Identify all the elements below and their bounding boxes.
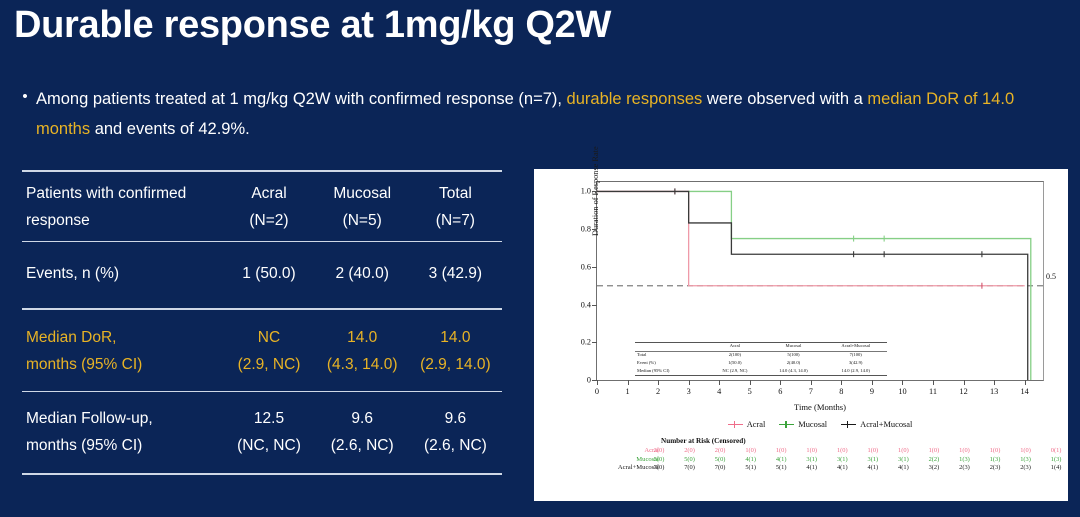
risk-cell: 5(0) — [684, 456, 695, 463]
km-legend: Acral Mucosal Acral+Mucosal — [597, 420, 1043, 429]
risk-row-label: Acral — [605, 447, 659, 454]
inner-col-mucosal: Mucosal — [762, 342, 824, 351]
slide-root: Durable response at 1mg/kg Q2W • Among p… — [0, 0, 1080, 517]
inner-table-row-median: Median (95% CI) NC (2.9, NC) 14.0 (4.3, … — [635, 367, 887, 375]
table-row-median-followup: Median Follow-up, months (95% CI) 12.5 (… — [22, 405, 502, 459]
inner-col-blank — [635, 342, 707, 351]
legend-label-acral-mucosal: Acral+Mucosal — [860, 420, 912, 429]
table-row: Median DoR, months (95% CI) NC (2.9, NC)… — [22, 324, 502, 378]
risk-row-label: Mucosal — [605, 456, 659, 463]
y-tick-label: 0.4 — [581, 300, 591, 309]
x-tick-label: 2 — [656, 387, 660, 396]
risk-cell: 3(1) — [806, 456, 817, 463]
x-tick-label: 6 — [778, 387, 782, 396]
inner-col-acral-mucosal: Acral+Mucosal — [824, 342, 887, 351]
km-chart-panel: Duration of Response Rate 00.20.40.60.81… — [534, 169, 1068, 501]
inner-table-row-event: Event (%) 1(50.0) 2(40.0) 3(42.9) — [635, 359, 887, 367]
risk-cell: 1(3) — [1020, 456, 1031, 463]
row-label-median-dor: Median DoR, months (95% CI) — [22, 324, 222, 378]
x-tick-label: 10 — [898, 387, 906, 396]
cell-followup-acral: 12.5 (NC, NC) — [222, 405, 315, 459]
risk-row-label: Acral+Mucosal — [605, 464, 659, 471]
risk-cell: 4(1) — [776, 456, 787, 463]
y-tick-label: 0.6 — [581, 262, 591, 271]
legend-marker-acral-mucosal-icon — [841, 420, 856, 429]
legend-item-acral: Acral — [728, 420, 766, 429]
summary-table-grid: Patients with confirmed response Acral (… — [22, 180, 502, 234]
table-col-header-mucosal: Mucosal (N=5) — [316, 180, 409, 234]
x-tick-mark — [628, 380, 629, 385]
risk-cell: 1(0) — [868, 447, 879, 454]
x-tick-label: 9 — [870, 387, 874, 396]
cell-followup-total: 9.6 (2.6, NC) — [409, 405, 502, 459]
bullet-seg-5: and events of 42.9%. — [90, 120, 250, 138]
inner-table-row-total: Total 2(100) 5(100) 7(100) — [635, 351, 887, 359]
risk-cell: 1(4) — [1051, 464, 1062, 471]
table-row: Median Follow-up, months (95% CI) 12.5 (… — [22, 405, 502, 459]
risk-cell: 1(0) — [990, 447, 1001, 454]
cell-events-total: 3 (42.9) — [409, 260, 502, 287]
km-inner-stats-grid: Acral Mucosal Acral+Mucosal Total 2(100)… — [635, 342, 887, 376]
x-tick-mark — [658, 380, 659, 385]
risk-cell: 1(0) — [959, 447, 970, 454]
x-tick-mark — [933, 380, 934, 385]
risk-cell: 1(0) — [745, 447, 756, 454]
table-header-row: Patients with confirmed response Acral (… — [22, 180, 502, 234]
risk-cell: 1(3) — [959, 456, 970, 463]
x-tick-label: 7 — [809, 387, 813, 396]
km-chart-inner: Duration of Response Rate 00.20.40.60.81… — [534, 169, 1068, 501]
risk-cell: 1(0) — [929, 447, 940, 454]
table-header-label: Patients with confirmed response — [22, 180, 222, 234]
risk-cell: 2(3) — [990, 464, 1001, 471]
risk-cell: 4(1) — [837, 464, 848, 471]
risk-cell: 4(1) — [898, 464, 909, 471]
x-tick-label: 5 — [748, 387, 752, 396]
risk-cell: 0(1) — [1051, 447, 1062, 454]
bullet-text: Among patients treated at 1 mg/kg Q2W wi… — [36, 84, 1070, 144]
risk-cell: 1(3) — [990, 456, 1001, 463]
risk-cell: 2(3) — [959, 464, 970, 471]
x-tick-label: 3 — [687, 387, 691, 396]
x-tick-label: 13 — [990, 387, 998, 396]
x-tick-label: 4 — [717, 387, 721, 396]
table-rule-1 — [22, 241, 502, 243]
table-rule-bottom — [22, 473, 502, 475]
table-row-median-dor: Median DoR, months (95% CI) NC (2.9, NC)… — [22, 324, 502, 378]
page-title: Durable response at 1mg/kg Q2W — [14, 4, 611, 47]
risk-cell: 2(0) — [715, 447, 726, 454]
legend-item-mucosal: Mucosal — [779, 420, 827, 429]
legend-label-acral: Acral — [747, 420, 766, 429]
bullet-highlight-durable: durable responses — [567, 90, 703, 108]
risk-cell: 2(2) — [929, 456, 940, 463]
risk-cell: 1(0) — [837, 447, 848, 454]
cell-median-dor-total: 14.0 (2.9, 14.0) — [409, 324, 502, 378]
risk-cell: 5(1) — [776, 464, 787, 471]
risk-cell: 1(0) — [806, 447, 817, 454]
x-tick-label: 0 — [595, 387, 599, 396]
risk-cell: 2(0) — [654, 447, 665, 454]
x-tick-mark — [872, 380, 873, 385]
cell-events-acral: 1 (50.0) — [222, 260, 315, 287]
legend-marker-mucosal-icon — [779, 420, 794, 429]
y-tick-label: 0.8 — [581, 225, 591, 234]
risk-cell: 7(0) — [684, 464, 695, 471]
bullet-marker-icon: • — [14, 84, 36, 110]
cell-median-dor-mucosal: 14.0 (4.3, 14.0) — [316, 324, 409, 378]
x-tick-mark — [811, 380, 812, 385]
risk-cell: 4(1) — [745, 456, 756, 463]
inner-col-acral: Acral — [707, 342, 762, 351]
cell-events-mucosal: 2 (40.0) — [316, 260, 409, 287]
table-gap-2 — [22, 287, 502, 301]
legend-item-acral-mucosal: Acral+Mucosal — [841, 420, 912, 429]
x-tick-mark — [1025, 380, 1026, 385]
bullet-block: • Among patients treated at 1 mg/kg Q2W … — [14, 84, 1070, 144]
x-tick-label: 8 — [839, 387, 843, 396]
table-header-label-line2: response — [26, 207, 222, 234]
x-tick-label: 1 — [625, 387, 629, 396]
row-label-events: Events, n (%) — [22, 260, 222, 287]
cell-followup-mucosal: 9.6 (2.6, NC) — [316, 405, 409, 459]
x-tick-mark — [689, 380, 690, 385]
reference-line-label: 0.5 — [1046, 272, 1056, 281]
table-header-label-line1: Patients with confirmed — [26, 180, 222, 207]
summary-table: Patients with confirmed response Acral (… — [22, 163, 502, 483]
table-rule-2 — [22, 308, 502, 310]
table-rule-3 — [22, 391, 502, 393]
risk-cell: 7(0) — [654, 464, 665, 471]
risk-cell: 3(1) — [868, 456, 879, 463]
risk-cell: 1(0) — [898, 447, 909, 454]
table-col-header-total: Total (N=7) — [409, 180, 502, 234]
risk-cell: 3(1) — [898, 456, 909, 463]
y-tick-label: 0.2 — [581, 338, 591, 347]
x-tick-mark — [994, 380, 995, 385]
table-col-header-acral: Acral (N=2) — [222, 180, 315, 234]
risk-cell: 4(1) — [868, 464, 879, 471]
x-tick-mark — [750, 380, 751, 385]
risk-cell: 5(1) — [745, 464, 756, 471]
risk-cell: 2(0) — [684, 447, 695, 454]
legend-label-mucosal: Mucosal — [798, 420, 827, 429]
cell-median-dor-acral: NC (2.9, NC) — [222, 324, 315, 378]
risk-table-title: Number at Risk (Censored) — [661, 437, 746, 445]
risk-cell: 4(1) — [806, 464, 817, 471]
bullet-item: • Among patients treated at 1 mg/kg Q2W … — [14, 84, 1070, 144]
x-tick-label: 12 — [959, 387, 967, 396]
inner-table-header-row: Acral Mucosal Acral+Mucosal — [635, 342, 887, 351]
km-inner-stats-table: Acral Mucosal Acral+Mucosal Total 2(100)… — [635, 342, 887, 376]
row-label-median-followup: Median Follow-up, months (95% CI) — [22, 405, 222, 459]
table-gap-6 — [22, 459, 502, 466]
y-tick-label: 0 — [587, 376, 591, 385]
risk-cell: 3(2) — [929, 464, 940, 471]
risk-cell: 3(1) — [837, 456, 848, 463]
km-plot-area: Duration of Response Rate 00.20.40.60.81… — [596, 181, 1044, 381]
table-rule-top — [22, 170, 502, 172]
legend-marker-acral-icon — [728, 420, 743, 429]
risk-cell: 5(0) — [715, 456, 726, 463]
risk-cell: 1(3) — [1051, 456, 1062, 463]
x-tick-mark — [964, 380, 965, 385]
table-gap-4 — [22, 378, 502, 384]
table-row-events: Events, n (%) 1 (50.0) 2 (40.0) 3 (42.9) — [22, 260, 502, 287]
risk-cell: 1(0) — [1020, 447, 1031, 454]
risk-cell: 7(0) — [715, 464, 726, 471]
x-tick-mark — [841, 380, 842, 385]
risk-cell: 5(0) — [654, 456, 665, 463]
risk-cell: 1(0) — [776, 447, 787, 454]
bullet-seg-3: were observed with a — [702, 90, 867, 108]
x-tick-label: 14 — [1021, 387, 1029, 396]
y-tick-label: 1.0 — [581, 187, 591, 196]
x-tick-mark — [902, 380, 903, 385]
x-tick-mark — [780, 380, 781, 385]
table-row: Events, n (%) 1 (50.0) 2 (40.0) 3 (42.9) — [22, 260, 502, 287]
risk-cell: 2(3) — [1020, 464, 1031, 471]
risk-row-acral-mucosal: Acral+Mucosal7(0)7(0)7(0)5(1)5(1)4(1)4(1… — [605, 464, 1075, 473]
x-tick-mark — [719, 380, 720, 385]
x-axis-label: Time (Months) — [597, 402, 1043, 412]
x-tick-label: 11 — [929, 387, 937, 396]
x-tick-mark — [597, 380, 598, 385]
bullet-seg-1: Among patients treated at 1 mg/kg Q2W wi… — [36, 90, 567, 108]
table-gap-1 — [22, 250, 502, 260]
